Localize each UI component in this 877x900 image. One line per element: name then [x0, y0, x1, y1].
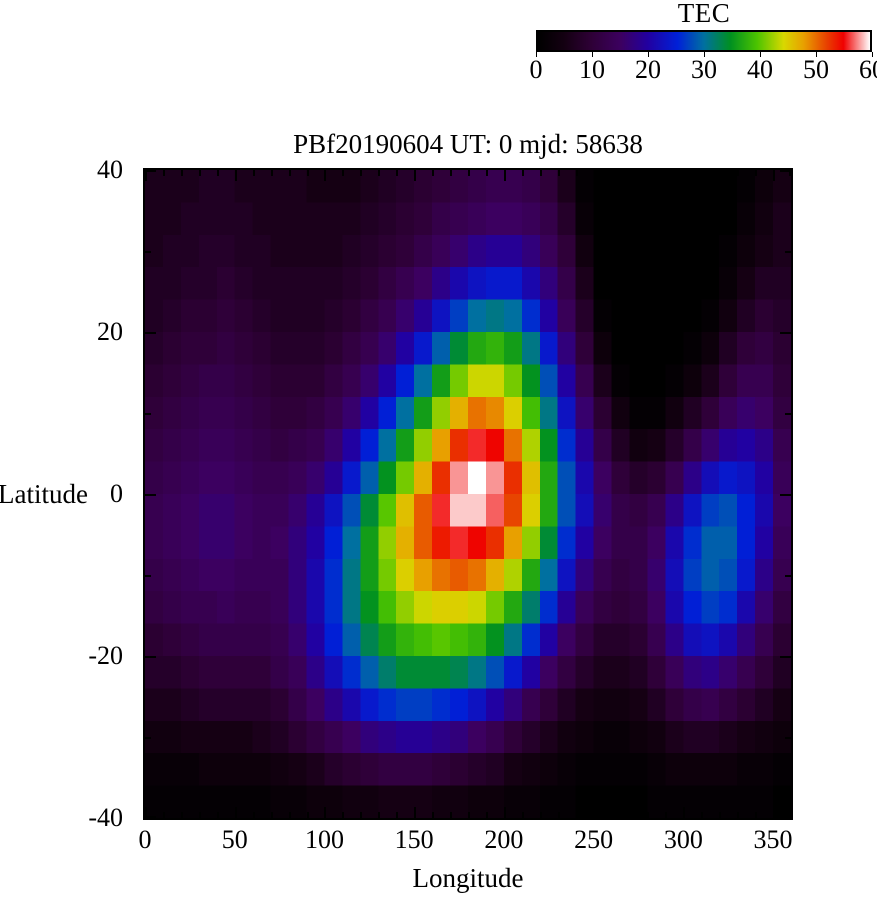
axis-tick	[307, 170, 309, 176]
heatmap-plot-area	[143, 168, 793, 820]
axis-tick	[773, 807, 775, 818]
axis-tick	[785, 737, 791, 739]
axis-tick	[647, 812, 649, 818]
colorbar-tick-label: 50	[803, 55, 829, 85]
colorbar-tick-label: 30	[691, 55, 717, 85]
axis-tick	[378, 170, 380, 176]
axis-tick	[414, 807, 416, 818]
axis-tick	[199, 812, 201, 818]
axis-tick	[360, 812, 362, 818]
axis-tick	[780, 816, 791, 818]
x-tick-label: 200	[484, 824, 523, 856]
axis-tick	[576, 812, 578, 818]
axis-tick	[780, 170, 791, 172]
axis-tick	[755, 812, 757, 818]
y-tick-label: 20	[97, 317, 123, 347]
axis-tick	[540, 812, 542, 818]
colorbar-tick-label: 10	[579, 55, 605, 85]
x-axis-tick-labels: 050100150200250300350	[143, 824, 793, 864]
axis-tick	[145, 575, 151, 577]
x-tick-label: 250	[574, 824, 613, 856]
axis-tick	[145, 170, 156, 172]
x-tick-label: 300	[664, 824, 703, 856]
axis-tick	[378, 812, 380, 818]
axis-tick	[468, 812, 470, 818]
y-axis-label: Latitude	[0, 478, 138, 510]
axis-tick	[181, 812, 183, 818]
axis-tick	[235, 170, 237, 181]
axis-tick	[145, 494, 156, 496]
axis-tick	[271, 812, 273, 818]
axis-tick	[630, 812, 632, 818]
axis-tick	[289, 170, 291, 176]
x-axis-label: Longitude	[143, 862, 793, 894]
axis-tick	[199, 170, 201, 176]
plot-title: PBf20190604 UT: 0 mjd: 58638	[143, 128, 793, 160]
axis-tick	[785, 413, 791, 415]
axis-tick	[612, 170, 614, 176]
axis-tick	[360, 170, 362, 176]
axis-tick	[665, 812, 667, 818]
axis-tick	[253, 170, 255, 176]
axis-tick	[145, 332, 156, 334]
axis-tick	[647, 170, 649, 176]
y-tick-label: -40	[88, 803, 123, 833]
axis-tick	[163, 812, 165, 818]
colorbar-tick-label: 40	[747, 55, 773, 85]
colorbar-tick-label: 0	[530, 55, 543, 85]
colorbar-tick-labels: 0102030405060	[536, 55, 872, 91]
axis-tick	[504, 170, 506, 181]
axis-tick	[145, 251, 151, 253]
colorbar-title: TEC	[536, 0, 872, 28]
tec-heatmap-canvas	[145, 170, 791, 818]
axis-tick	[785, 251, 791, 253]
axis-tick	[450, 170, 452, 176]
axis-tick	[737, 170, 739, 176]
axis-tick	[486, 170, 488, 176]
axis-tick	[217, 170, 219, 176]
axis-tick	[683, 807, 685, 818]
colorbar-gradient	[538, 32, 870, 50]
axis-tick	[522, 812, 524, 818]
axis-tick	[145, 816, 156, 818]
axis-tick	[594, 170, 596, 181]
x-tick-label: 0	[139, 824, 152, 856]
axis-tick	[780, 332, 791, 334]
axis-tick	[324, 170, 326, 181]
axis-tick	[145, 413, 151, 415]
axis-tick	[342, 812, 344, 818]
axis-tick	[630, 170, 632, 176]
axis-tick	[522, 170, 524, 176]
axis-tick	[289, 812, 291, 818]
x-tick-label: 100	[305, 824, 344, 856]
axis-tick	[342, 170, 344, 176]
axis-tick	[271, 170, 273, 176]
axis-tick	[235, 807, 237, 818]
axis-tick	[396, 170, 398, 176]
axis-tick	[665, 170, 667, 176]
axis-tick	[432, 812, 434, 818]
axis-tick	[701, 170, 703, 176]
axis-tick	[486, 812, 488, 818]
colorbar-tick-label: 60	[859, 55, 877, 85]
axis-tick	[145, 737, 151, 739]
axis-tick	[145, 656, 156, 658]
axis-tick	[576, 170, 578, 176]
axis-tick	[594, 807, 596, 818]
tec-map-figure: TEC 0102030405060 PBf20190604 UT: 0 mjd:…	[0, 0, 877, 900]
axis-tick	[558, 812, 560, 818]
axis-tick	[558, 170, 560, 176]
colorbar: TEC 0102030405060	[0, 0, 877, 100]
axis-tick	[785, 575, 791, 577]
y-tick-label: -20	[88, 641, 123, 671]
axis-tick	[217, 812, 219, 818]
colorbar-frame	[536, 30, 872, 52]
x-tick-label: 350	[754, 824, 793, 856]
axis-tick	[719, 812, 721, 818]
axis-tick	[468, 170, 470, 176]
axis-tick	[181, 170, 183, 176]
axis-tick	[414, 170, 416, 181]
axis-tick	[780, 656, 791, 658]
axis-tick	[432, 170, 434, 176]
axis-tick	[719, 170, 721, 176]
colorbar-tick-label: 20	[635, 55, 661, 85]
axis-tick	[612, 812, 614, 818]
axis-tick	[307, 812, 309, 818]
axis-tick	[450, 812, 452, 818]
axis-tick	[737, 812, 739, 818]
axis-tick	[701, 812, 703, 818]
axis-tick	[163, 170, 165, 176]
axis-tick	[780, 494, 791, 496]
axis-tick	[773, 170, 775, 181]
axis-tick	[324, 807, 326, 818]
x-tick-label: 150	[395, 824, 434, 856]
axis-tick	[755, 170, 757, 176]
axis-tick	[540, 170, 542, 176]
axis-tick	[504, 807, 506, 818]
y-tick-label: 40	[97, 155, 123, 185]
axis-tick	[396, 812, 398, 818]
x-tick-label: 50	[222, 824, 248, 856]
axis-tick	[253, 812, 255, 818]
axis-tick	[683, 170, 685, 181]
